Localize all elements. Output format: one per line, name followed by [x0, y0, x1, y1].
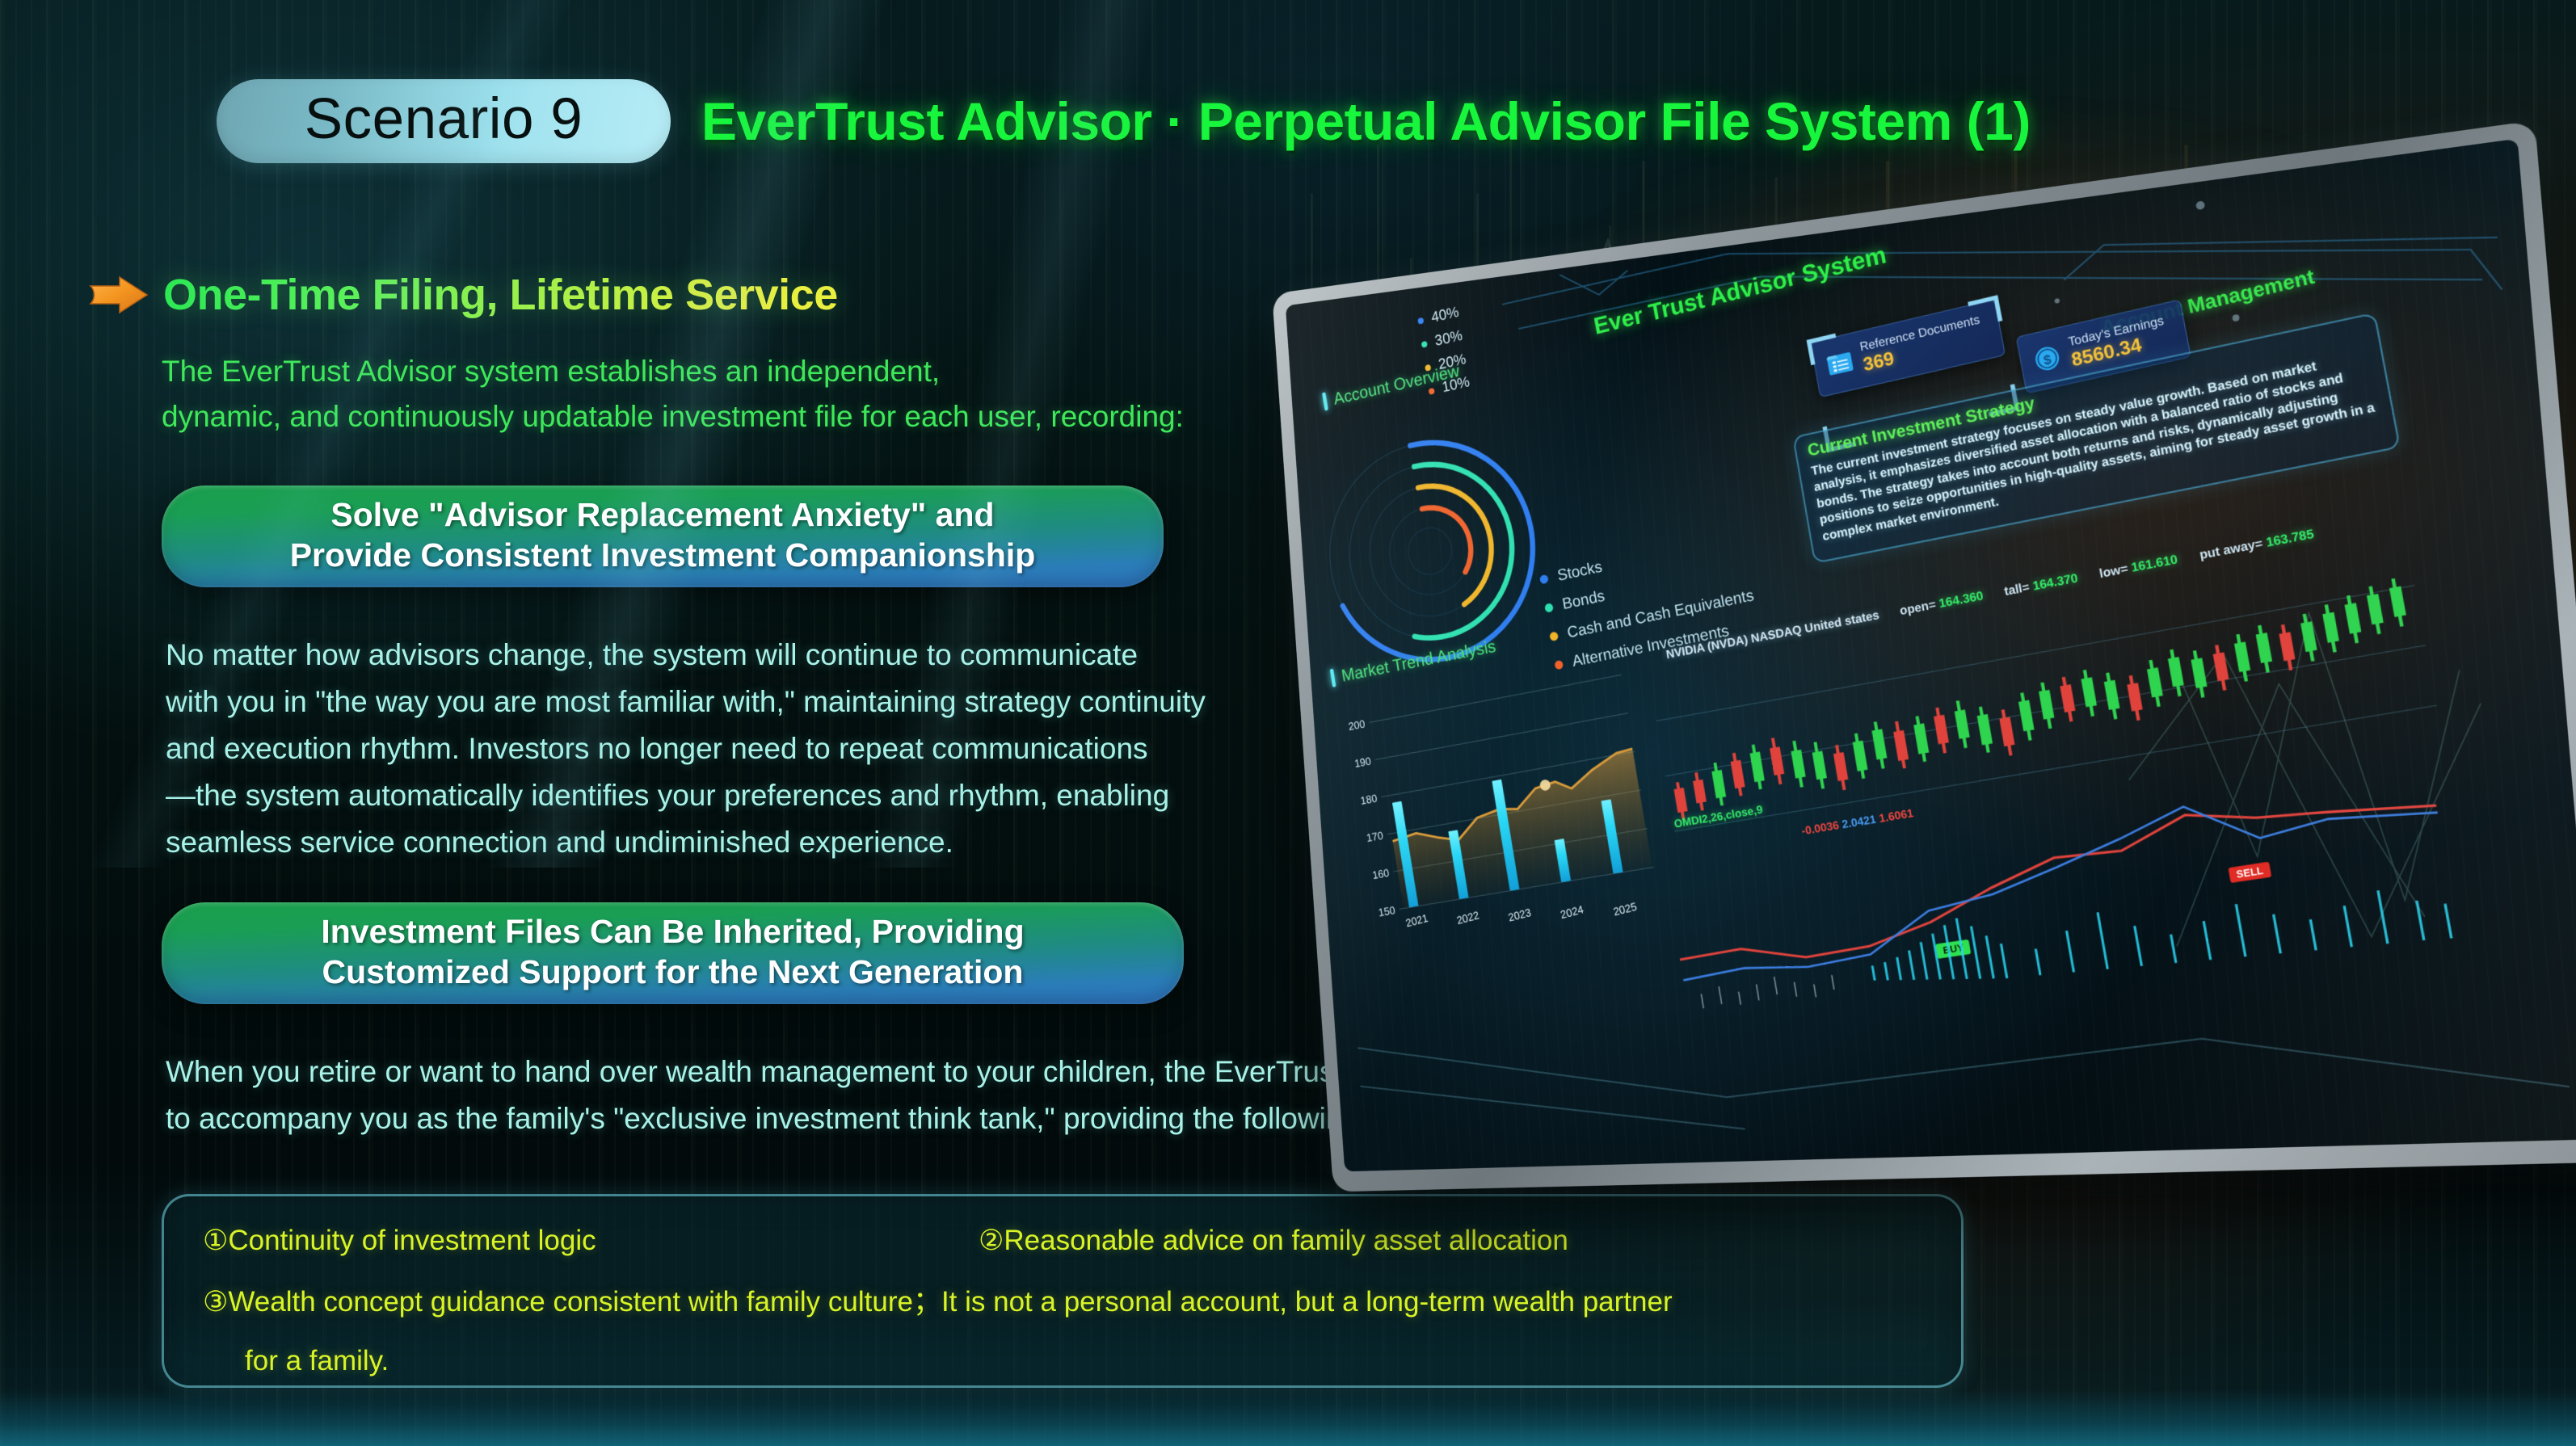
- tablet-frame: Ever Trust Advisor System Account Manage…: [1272, 120, 2576, 1192]
- market-trend-bar-chart: 200190180 170160150: [1336, 650, 1669, 956]
- paragraph-1-line-5: seamless service connection and undimini…: [166, 819, 1297, 866]
- highlight-pill-2: Investment Files Can Be Inherited, Provi…: [162, 902, 1184, 1004]
- section-heading: One-Time Filing, Lifetime Service: [163, 270, 838, 320]
- legend-swatch-bonds: [1544, 603, 1554, 613]
- paragraph-1-line-4: —the system automatically identifies you…: [166, 772, 1297, 819]
- note-item-2: ②Reasonable advice on family asset alloc…: [979, 1221, 1568, 1261]
- svg-text:190: 190: [1353, 755, 1372, 769]
- pill-2-line-1: Investment Files Can Be Inherited, Provi…: [321, 911, 1024, 952]
- document-folder-icon: [1825, 347, 1856, 380]
- body-paragraph-1: No matter how advisors change, the syste…: [166, 632, 1297, 866]
- left-content-column: One-Time Filing, Lifetime Service The Ev…: [0, 0, 1309, 1446]
- note-item-3: ③Wealth concept guidance consistent with…: [203, 1282, 1922, 1322]
- pill-1-line-1: Solve "Advisor Replacement Anxiety" and: [330, 494, 994, 535]
- section-lede: The EverTrust Advisor system establishes…: [162, 349, 1293, 439]
- pill-2-line-2: Customized Support for the Next Generati…: [322, 952, 1024, 992]
- dashboard-screen: Ever Trust Advisor System Account Manage…: [1286, 139, 2576, 1172]
- pill-1-line-2: Provide Consistent Investment Companions…: [290, 535, 1036, 575]
- paragraph-1-line-3: and execution rhythm. Investors no longe…: [166, 725, 1297, 772]
- slide-canvas: Scenario 9 EverTrust Advisor · Perpetual…: [0, 0, 2576, 1446]
- note-item-3-continued: for a family.: [245, 1341, 1922, 1381]
- legend-dot-alternative: [1429, 388, 1435, 395]
- svg-text:170: 170: [1366, 830, 1384, 844]
- legend-dot-stocks: [1417, 317, 1424, 325]
- note-row-top: ①Continuity of investment logic ②Reasona…: [203, 1221, 1922, 1261]
- svg-text:2021: 2021: [1404, 912, 1429, 930]
- svg-text:150: 150: [1378, 904, 1396, 918]
- arrow-right-icon: [87, 275, 150, 315]
- note-item-1: ①Continuity of investment logic: [203, 1221, 979, 1261]
- dollar-coin-icon: $: [2031, 342, 2064, 376]
- paragraph-2-line-2: to accompany you as the family's "exclus…: [166, 1095, 1313, 1142]
- legend-swatch-cash: [1549, 631, 1559, 641]
- svg-text:2022: 2022: [1455, 909, 1480, 927]
- tablet-mockup: Ever Trust Advisor System Account Manage…: [1272, 120, 2576, 1192]
- highlight-pill-1: Solve "Advisor Replacement Anxiety" and …: [162, 486, 1164, 587]
- legend-dot-cash: [1425, 364, 1431, 372]
- lede-line-1: The EverTrust Advisor system establishes…: [162, 349, 1293, 394]
- benefits-note-box: ①Continuity of investment logic ②Reasona…: [162, 1194, 1964, 1388]
- paragraph-1-line-2: with you in "the way you are most famili…: [166, 679, 1297, 725]
- paragraph-1-line-1: No matter how advisors change, the syste…: [166, 632, 1297, 679]
- legend-swatch-stocks: [1539, 574, 1549, 585]
- svg-text:2024: 2024: [1559, 903, 1585, 921]
- svg-text:200: 200: [1348, 717, 1366, 732]
- svg-text:2023: 2023: [1507, 906, 1532, 924]
- legend-dot-bonds: [1421, 341, 1428, 348]
- body-paragraph-2: When you retire or want to hand over wea…: [166, 1049, 1313, 1142]
- svg-text:180: 180: [1360, 792, 1378, 806]
- svg-text:160: 160: [1371, 867, 1390, 881]
- section-heading-row: One-Time Filing, Lifetime Service: [87, 270, 838, 320]
- lede-line-2: dynamic, and continuously updatable inve…: [162, 394, 1293, 439]
- paragraph-2-line-1: When you retire or want to hand over wea…: [166, 1049, 1313, 1095]
